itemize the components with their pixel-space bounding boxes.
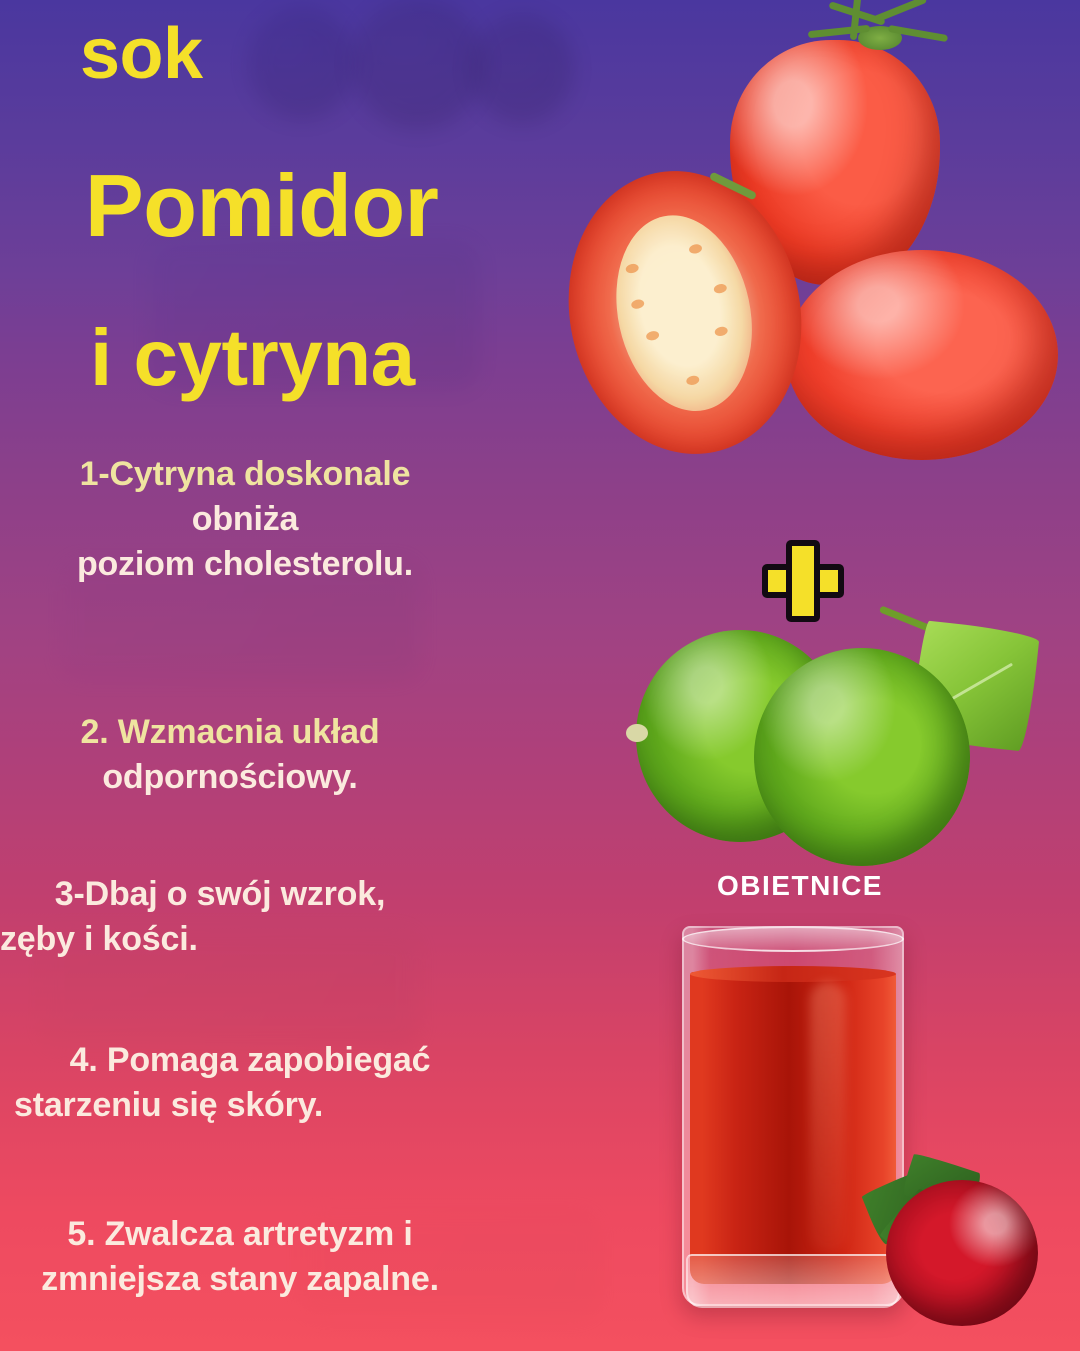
juice-highlight	[810, 982, 846, 1252]
tomato-whole-oval	[786, 250, 1058, 460]
glass-rim	[682, 926, 904, 952]
benefit-item-2: 2. Wzmacnia układ odpornościowy.	[0, 710, 460, 800]
headline-line-sok: sok	[80, 18, 203, 90]
headline-line-pomidor: Pomidor	[85, 162, 438, 250]
benefit-2-line-2: odpornościowy.	[0, 755, 460, 800]
plus-icon	[762, 540, 844, 622]
benefit-item-5: 5. Zwalcza artretyzm i zmniejsza stany z…	[0, 1212, 480, 1302]
benefit-5-line-1: 5. Zwalcza artretyzm i	[0, 1212, 480, 1257]
juice-surface	[690, 966, 896, 982]
benefit-2-line-1: 2. Wzmacnia układ	[0, 710, 460, 755]
lime-stem-nub	[626, 724, 648, 742]
benefit-4-line-1: 4. Pomaga zapobiegać	[0, 1038, 500, 1083]
background-ghost-shape	[470, 14, 574, 124]
benefit-5-line-2: zmniejsza stany zapalne.	[0, 1257, 480, 1302]
headline-line-cytryna: i cytryna	[90, 318, 415, 398]
tomatoes-image	[560, 0, 1080, 500]
poster-canvas: sok Pomidor i cytryna 1-Cytryna doskonal…	[0, 0, 1080, 1351]
glass-base	[686, 1254, 900, 1308]
tomato-half-core	[599, 203, 769, 424]
cherry-tomato	[886, 1180, 1038, 1326]
juice-fill	[690, 972, 896, 1284]
tomato-juice-glass-image	[660, 918, 1080, 1338]
benefit-3-line-2: zęby i kości.	[0, 917, 440, 962]
benefit-item-4: 4. Pomaga zapobiegać starzeniu się skóry…	[0, 1038, 500, 1128]
background-ghost-shape	[352, 0, 484, 130]
benefit-1-line-2: obniża	[0, 497, 490, 542]
tomato-stem-spike	[873, 0, 928, 23]
benefit-1-line-3: poziom cholesterolu.	[0, 542, 490, 587]
limes-image	[620, 612, 1020, 864]
benefit-item-1: 1-Cytryna doskonale obniża poziom choles…	[0, 452, 490, 587]
benefit-3-line-1: 3-Dbaj o swój wzrok,	[0, 872, 440, 917]
benefit-4-line-2: starzeniu się skóry.	[0, 1083, 500, 1128]
benefit-item-3: 3-Dbaj o swój wzrok, zęby i kości.	[0, 872, 440, 962]
plus-icon-center	[792, 570, 814, 592]
obietnice-label: OBIETNICE	[640, 870, 960, 902]
benefit-1-line-1: 1-Cytryna doskonale	[0, 452, 490, 497]
lime-front	[754, 648, 970, 866]
background-ghost-shape	[248, 8, 356, 120]
